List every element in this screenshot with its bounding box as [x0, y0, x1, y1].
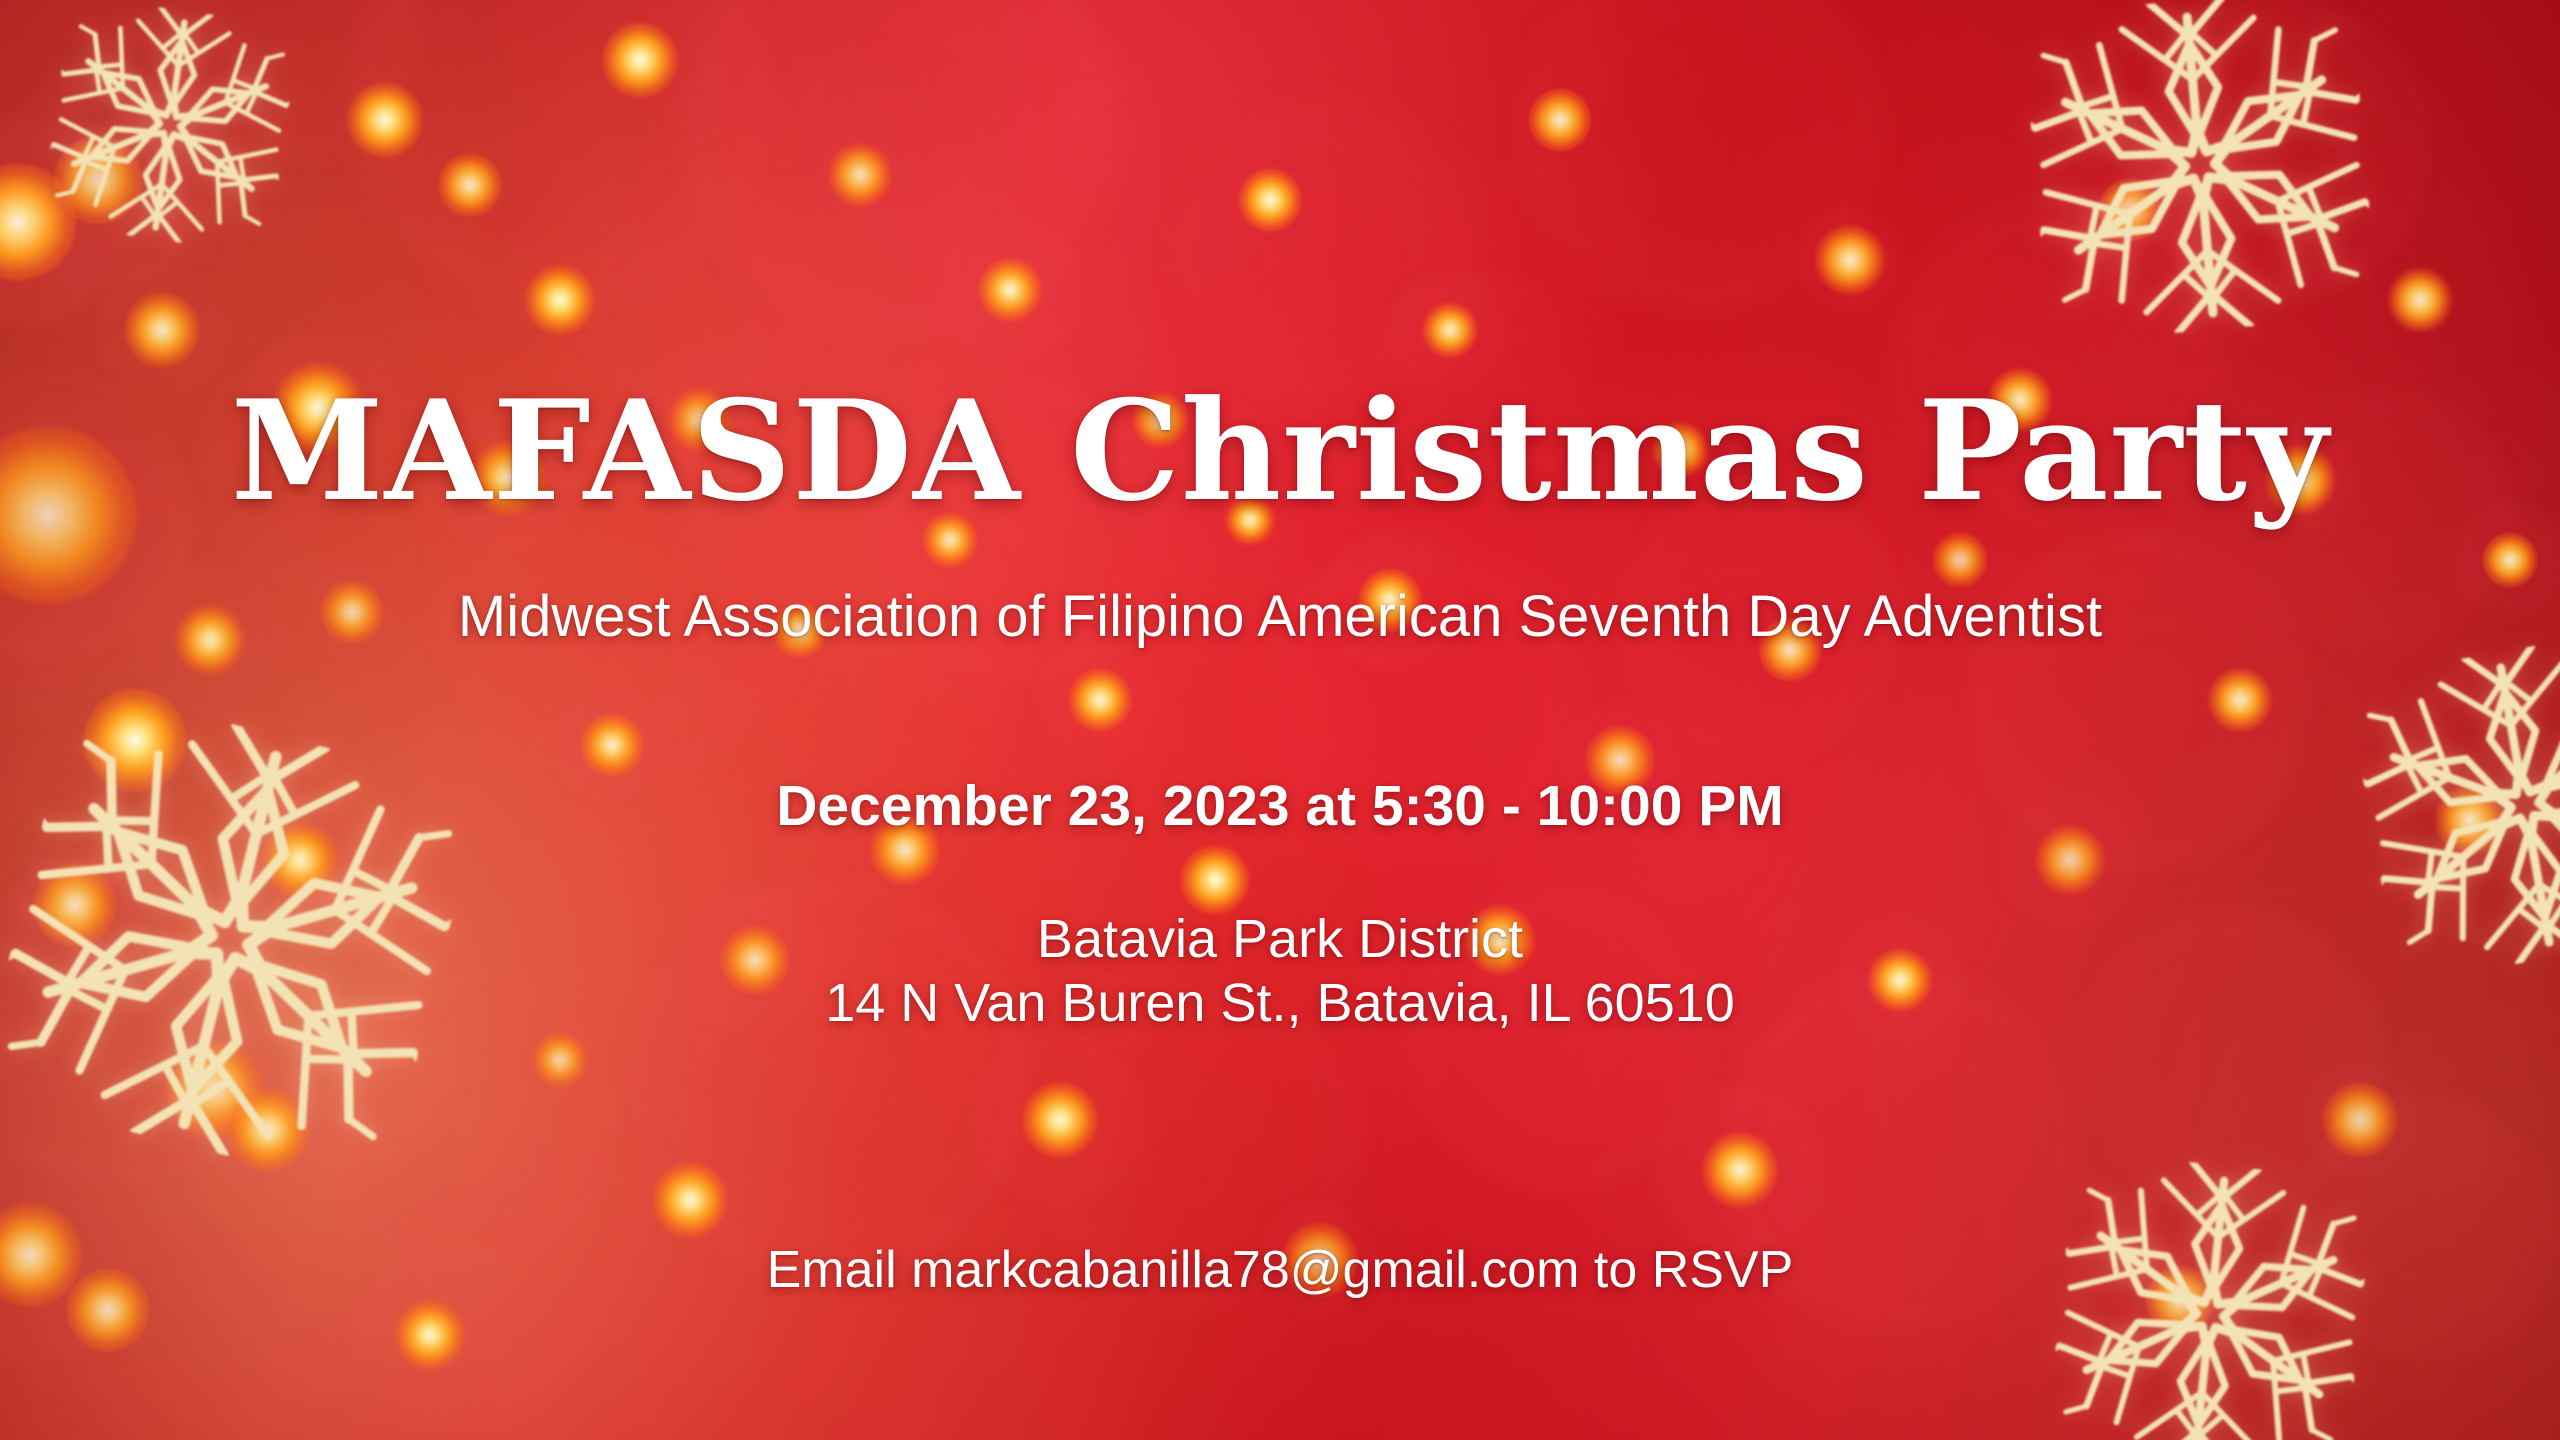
venue-address: 14 N Van Buren St., Batavia, IL 60510	[0, 972, 2560, 1036]
page-title: MAFASDA Christmas Party	[0, 382, 2560, 520]
christmas-party-flyer: MAFASDA Christmas Party Midwest Associat…	[0, 0, 2560, 1440]
rsvp-instruction: Email markcabanilla78@gmail.com to RSVP	[0, 1240, 2560, 1300]
flyer-content: MAFASDA Christmas Party Midwest Associat…	[0, 0, 2560, 1440]
venue-name: Batavia Park District	[0, 908, 2560, 972]
event-datetime: December 23, 2023 at 5:30 - 10:00 PM	[0, 773, 2560, 839]
event-venue: Batavia Park District 14 N Van Buren St.…	[0, 908, 2560, 1035]
organization-subtitle: Midwest Association of Filipino American…	[0, 585, 2560, 649]
